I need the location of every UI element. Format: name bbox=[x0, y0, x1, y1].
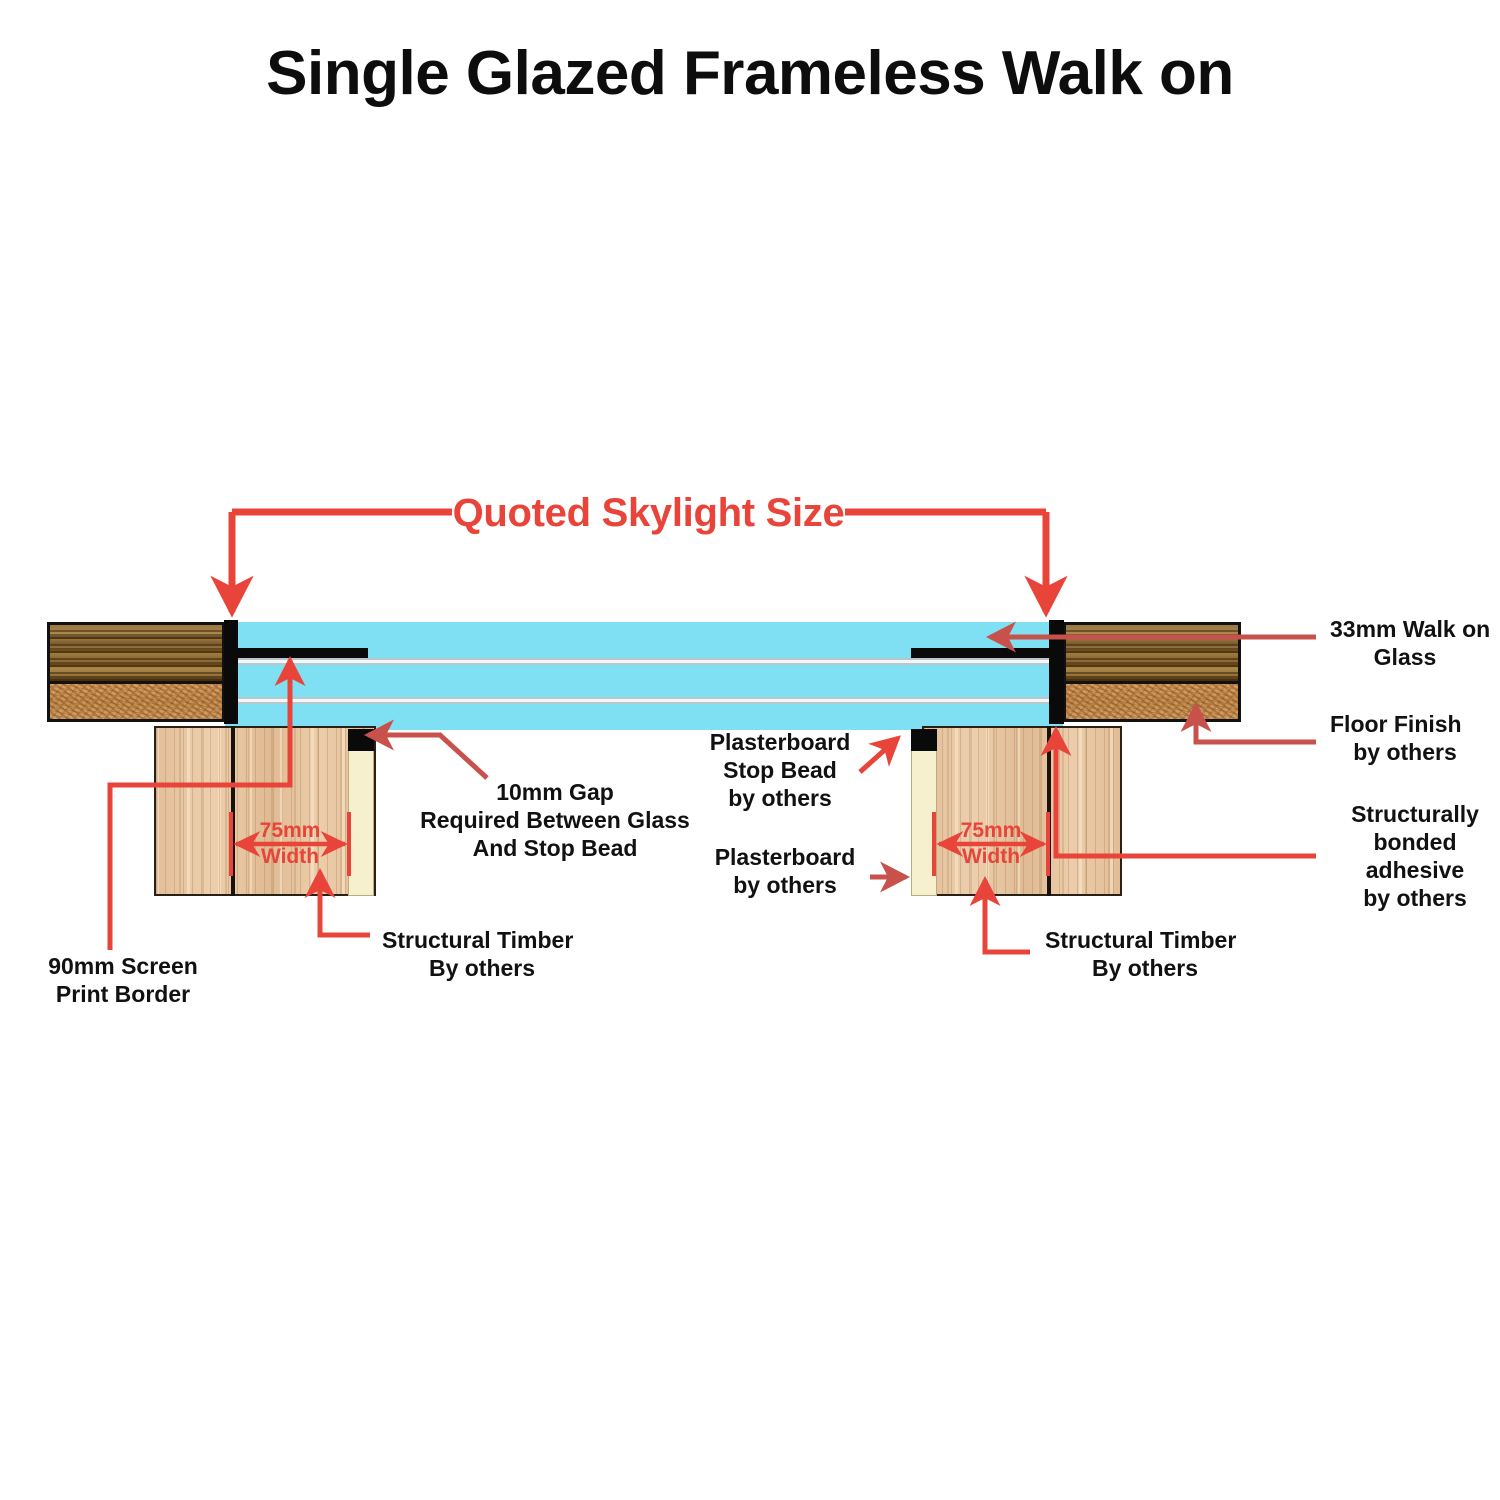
glass-pane-middle bbox=[225, 665, 1063, 697]
plasterboard-stop-bead-right bbox=[911, 729, 937, 751]
glass-interlayer-upper-core bbox=[225, 660, 1063, 663]
label-line: 33mm Walk on bbox=[1330, 615, 1500, 643]
glass-interlayer-lower-core bbox=[225, 699, 1063, 702]
label-line: by others bbox=[705, 871, 865, 899]
label-line: Plasterboard bbox=[700, 728, 860, 756]
label-line: Structural Timber bbox=[382, 926, 602, 954]
floor-finish-left bbox=[47, 622, 225, 684]
label-structural-timber-left: Structural Timber By others bbox=[382, 926, 602, 982]
bonded-adhesive-left bbox=[224, 620, 238, 724]
structural-timber-right bbox=[922, 726, 1122, 896]
diagram-canvas: Single Glazed Frameless Walk on bbox=[0, 0, 1500, 1500]
screen-print-border-left bbox=[233, 648, 368, 658]
dimension-label-left: 75mm Width bbox=[240, 818, 340, 871]
label-line: by others bbox=[1330, 884, 1500, 912]
label-line: bonded bbox=[1330, 828, 1500, 856]
label-line: Stop Bead bbox=[700, 756, 860, 784]
dimension-value: 75mm bbox=[941, 818, 1041, 844]
label-plasterboard: Plasterboard by others bbox=[705, 843, 865, 899]
label-line: 90mm Screen bbox=[28, 952, 218, 980]
label-line: Structural Timber bbox=[1045, 926, 1265, 954]
floor-substrate-left bbox=[47, 684, 225, 722]
label-screen-print-border: 90mm Screen Print Border bbox=[28, 952, 218, 1008]
floor-substrate-right bbox=[1063, 684, 1241, 722]
label-line: Floor Finish bbox=[1330, 710, 1500, 738]
screen-print-border-right bbox=[911, 648, 1056, 658]
label-line: by others bbox=[1330, 738, 1480, 766]
leader-plasterboard-stop-bead bbox=[860, 738, 898, 772]
label-line: And Stop Bead bbox=[420, 834, 690, 862]
label-line: Glass bbox=[1330, 643, 1480, 671]
label-line: Plasterboard bbox=[705, 843, 865, 871]
label-plasterboard-stop-bead: Plasterboard Stop Bead by others bbox=[700, 728, 860, 812]
quoted-skylight-size-label: Quoted Skylight Size bbox=[452, 491, 845, 536]
label-line: Print Border bbox=[28, 980, 218, 1008]
structural-timber-left bbox=[154, 726, 376, 896]
label-line: Required Between Glass bbox=[420, 806, 690, 834]
label-line: By others bbox=[382, 954, 582, 982]
floor-finish-right bbox=[1063, 622, 1241, 684]
dimension-unit-label: Width bbox=[941, 844, 1041, 870]
label-10mm-gap: 10mm Gap Required Between Glass And Stop… bbox=[420, 778, 690, 862]
plasterboard-right bbox=[911, 748, 937, 896]
label-line: Structurally bbox=[1330, 800, 1500, 828]
label-33mm-walk-on-glass: 33mm Walk on Glass bbox=[1330, 615, 1500, 671]
label-floor-finish: Floor Finish by others bbox=[1330, 710, 1500, 766]
label-line: by others bbox=[700, 784, 860, 812]
label-structural-timber-right: Structural Timber By others bbox=[1045, 926, 1265, 982]
timber-seam-left bbox=[231, 726, 235, 896]
label-line: adhesive bbox=[1330, 856, 1500, 884]
plasterboard-left bbox=[348, 748, 374, 896]
plasterboard-stop-bead-left bbox=[348, 729, 374, 751]
page-title: Single Glazed Frameless Walk on bbox=[0, 38, 1500, 109]
bonded-adhesive-right bbox=[1049, 620, 1064, 724]
dimension-label-right: 75mm Width bbox=[941, 818, 1041, 871]
leader-gap-note bbox=[368, 735, 487, 778]
timber-seam-right bbox=[1047, 726, 1051, 896]
label-line: By others bbox=[1045, 954, 1245, 982]
dimension-value: 75mm bbox=[240, 818, 340, 844]
dimension-unit-label: Width bbox=[240, 844, 340, 870]
label-bonded-adhesive: Structurally bonded adhesive by others bbox=[1330, 800, 1500, 912]
label-line: 10mm Gap bbox=[420, 778, 690, 806]
